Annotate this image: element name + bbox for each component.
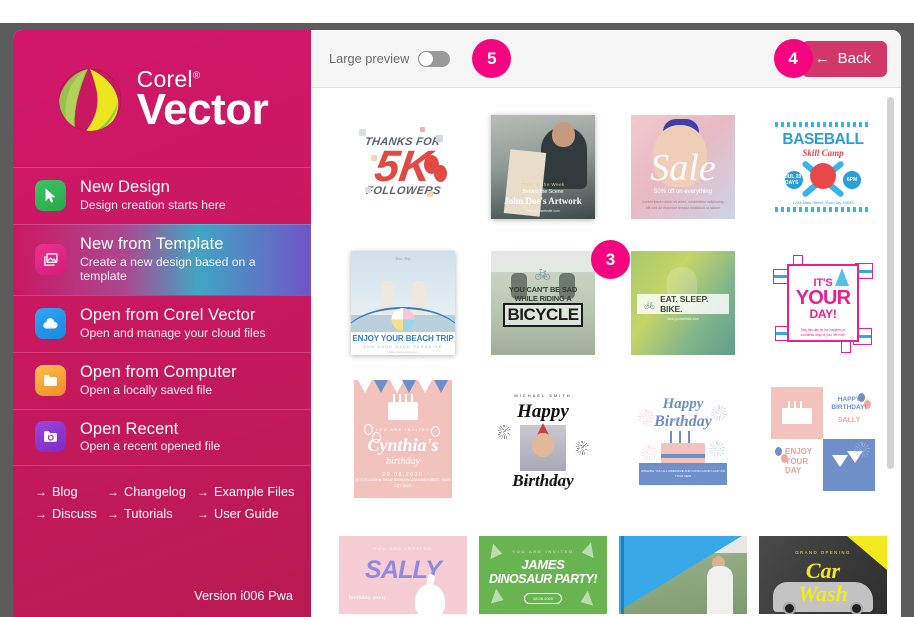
link-label: Discuss: [52, 506, 97, 521]
thumb-cap2: Behind the Scene: [491, 189, 595, 195]
thumb-name: Cynthia's: [354, 435, 452, 456]
bicycle-icon: 🚲: [535, 265, 551, 281]
recent-folder-icon: [35, 421, 66, 452]
sidebar-item-title: Open Recent: [80, 420, 220, 439]
thumb-name: MICHAEL SMITH: [491, 393, 595, 398]
template-thumbnail-car-wash-grand-opening: GRAND OPENING Car Wash: [759, 536, 887, 614]
thumb-boxed: BICYCLE: [507, 305, 578, 325]
annotation-badge-4: 4: [774, 39, 813, 78]
template-thumbnail-its-your-day: IT'S YOUR DAY! May this day be the happi…: [771, 251, 875, 355]
toolbar: Large preview 5 4 ← Back: [311, 30, 901, 88]
thumb-line1: YOU CAN'T BE SAD: [491, 285, 595, 294]
sidebar-item-title: New Design: [80, 178, 226, 197]
thumb-pre: YOU ARE INVITED: [339, 546, 467, 551]
template-thumbnail-bicycle-quote: 🚲 YOU CAN'T BE SAD WHILE RIDING A BICYCL…: [491, 251, 595, 355]
link-label: Changelog: [124, 484, 186, 499]
sidebar-item-title: Open from Computer: [80, 363, 237, 382]
sidebar-nav: New Design Design creation starts here N…: [13, 167, 311, 466]
thumb-title: BASEBALL: [775, 131, 871, 149]
thumb-fineprint: May this day be the happiest of countles…: [789, 328, 857, 338]
thumb-cap4: www.yourwebsite.com: [491, 209, 595, 213]
thumb-date: 28.08.2020: [524, 593, 562, 604]
brand-logo: Corel® Vector: [13, 30, 311, 164]
annotation-badge-5: 5: [472, 39, 511, 78]
template-card[interactable]: MICHAEL SMITH Happy Birthday 26 . 08 . 2…: [479, 378, 607, 500]
back-button[interactable]: ← Back: [802, 41, 887, 77]
template-thumbnail-cynthia-birthday: YOU ARE INVITED Cynthia's birthday 20.08…: [354, 380, 452, 498]
template-thumbnail-thanks-for-5k-followers: THANKS FOR 5K FOLLOWERS: [351, 115, 455, 219]
sidebar: Corel® Vector New Design Design creation…: [13, 30, 311, 617]
sidebar-item-subtitle: Create a new design based on a template: [80, 256, 297, 284]
thumb-subtitle: SUN SAND SAND PARADISE: [351, 345, 455, 349]
thumb-line2: Wash: [759, 581, 887, 607]
thumb-subtitle: 50% off on everything: [631, 189, 735, 195]
thumb-url: www.yourwebsite.com: [351, 350, 455, 354]
arrow-right-icon: →: [35, 507, 47, 521]
sidebar-item-new-from-template[interactable]: New from Template Create a new design ba…: [13, 224, 311, 295]
desktop-backdrop: Corel® Vector New Design Design creation…: [0, 0, 914, 617]
corel-logo-icon: [56, 66, 124, 134]
thumb-title: ENJOY YOUR BEACH TRIP: [351, 334, 455, 343]
template-thumbnail-sale-baby-photo: Sale 50% off on everything Lorem ipsum d…: [631, 115, 735, 219]
thumb-subtitle: Skill Camp: [775, 148, 871, 158]
version-label: Version i006 Pwa: [194, 588, 293, 603]
template-grid: THANKS FOR 5K FOLLOWERS: [311, 88, 901, 617]
arrow-right-icon: →: [107, 485, 119, 499]
thumb-line2: YOUR: [789, 289, 857, 307]
thumb-badge-right: 6PM: [843, 171, 861, 189]
thumb-sub: birthday party: [349, 595, 387, 600]
cloud-icon: [35, 308, 66, 339]
sidebar-item-subtitle: Design creation starts here: [80, 199, 226, 213]
template-card[interactable]: Your Trip ENJOY YOUR BEACH TRIP SUN SAND…: [339, 242, 467, 364]
sidebar-item-open-recent[interactable]: Open Recent Open a recent opened file: [13, 409, 311, 467]
thumb-line1: Happy: [491, 401, 595, 423]
folder-icon: [35, 365, 66, 396]
link-changelog[interactable]: →Changelog: [107, 484, 197, 499]
thumb-title: HAPPY BIRTHDAY!: [827, 396, 871, 412]
thumb-line3: DAY!: [789, 307, 857, 321]
link-label: Tutorials: [124, 506, 173, 521]
app-window: Corel® Vector New Design Design creation…: [13, 30, 901, 617]
link-example-files[interactable]: →Example Files: [197, 484, 311, 499]
bike-icon: 🚲: [644, 299, 655, 310]
cursor-icon: [35, 180, 66, 211]
link-blog[interactable]: →Blog: [35, 484, 107, 499]
template-card[interactable]: Topic of the Week Behind the Scene John …: [479, 106, 607, 228]
thumb-line1: Happy: [631, 397, 735, 411]
thumb-footer: WISHING YOU ALL AWESOME AND GOOD GOOD LU…: [639, 469, 727, 480]
thumb-pre: YOU ARE INVITED: [479, 549, 607, 554]
thumb-date: 20.08.2020: [354, 472, 452, 478]
registered-mark: ®: [193, 70, 201, 81]
thumb-top: Your Trip: [351, 256, 455, 261]
sidebar-links: →Blog →Changelog →Example Files →Discuss…: [13, 484, 311, 521]
link-label: User Guide: [214, 506, 279, 521]
link-tutorials[interactable]: →Tutorials: [107, 506, 197, 521]
brand-name-top: Corel: [137, 66, 193, 92]
link-user-guide[interactable]: →User Guide: [197, 506, 311, 521]
thumb-line1: JAMES: [479, 557, 607, 572]
link-discuss[interactable]: →Discuss: [35, 506, 107, 521]
link-label: Blog: [52, 484, 78, 499]
template-thumbnail-baseball-skill-camp: BASEBALL Skill Camp JUL 20 DAYS 6PM 1234…: [771, 115, 875, 219]
sidebar-item-subtitle: Open a locally saved file: [80, 384, 237, 398]
template-thumbnail-john-doe-artwork: Topic of the Week Behind the Scene John …: [491, 115, 595, 219]
large-preview-label: Large preview: [329, 51, 409, 66]
arrow-right-icon: →: [197, 485, 209, 499]
template-thumbnail-happy-birthday-cake: Happy Birthday WISHING YOU ALL AWESOME A…: [631, 387, 735, 491]
brand-wordmark: Corel® Vector: [137, 68, 269, 132]
template-thumbnail-happy-birthday-sally-quad: HAPPY BIRTHDAY! SALLY ENJOY YOUR DAY: [771, 387, 875, 491]
template-thumbnail-enjoy-your-beach-trip: Your Trip ENJOY YOUR BEACH TRIP SUN SAND…: [351, 251, 455, 355]
arrow-left-icon: ←: [815, 50, 830, 67]
sidebar-item-title: New from Template: [80, 235, 297, 254]
thumb-name: SALLY: [339, 556, 467, 585]
thumb-badge-left: JUL 20 DAYS: [785, 171, 803, 189]
image-stack-icon: [35, 244, 66, 275]
large-preview-toggle[interactable]: [418, 51, 450, 67]
annotation-badge-3: 3: [591, 240, 630, 279]
template-thumbnail-michael-smith-happy-birthday: MICHAEL SMITH Happy Birthday 26 . 08 . 2…: [491, 387, 595, 491]
template-card[interactable]: YOU ARE INVITED SALLY birthday party: [339, 514, 467, 617]
main-panel: Large preview 5 4 ← Back 3: [311, 30, 901, 617]
template-thumbnail-james-dinosaur-party: YOU ARE INVITED JAMES DINOSAUR PARTY! 28…: [479, 536, 607, 614]
thumb-title: Sale: [631, 149, 735, 187]
thumb-url: www.yourwebsite.com: [631, 317, 735, 321]
thumb-address: 1234 Main Street, Your City 20030: [775, 200, 871, 205]
template-card[interactable]: Sale 50% off on everything Lorem ipsum d…: [619, 106, 747, 228]
arrow-right-icon: →: [197, 507, 209, 521]
template-thumbnail-blue-diagonal-photo: [619, 536, 747, 614]
arrow-right-icon: →: [35, 485, 47, 499]
thumb-sub: birthday: [354, 456, 452, 467]
template-card[interactable]: Happy Birthday WISHING YOU ALL AWESOME A…: [619, 378, 747, 500]
thumb-pre: GRAND OPENING: [759, 550, 887, 555]
thumb-label: EAT. SLEEP. BIKE.: [660, 294, 722, 314]
thumb-footer: AT 5 O'CLOCK IN THE AFTERNOON 1234 MAIN …: [354, 478, 452, 489]
template-thumbnail-eat-sleep-bike: 🚲 EAT. SLEEP. BIKE. www.yourwebsite.com: [631, 251, 735, 355]
sidebar-item-subtitle: Open a recent opened file: [80, 440, 220, 454]
arrow-right-icon: →: [107, 507, 119, 521]
template-grid-container[interactable]: 3 THANKS FOR 5K FOLLOWERS: [311, 88, 901, 617]
thumb-cap1: Topic of the Week: [491, 182, 595, 187]
sidebar-item-title: Open from Corel Vector: [80, 306, 266, 325]
template-card[interactable]: BASEBALL Skill Camp JUL 20 DAYS 6PM 1234…: [759, 106, 887, 228]
brand-name-bottom: Vector: [137, 88, 269, 132]
template-card[interactable]: 🚲 YOU CAN'T BE SAD WHILE RIDING A BICYCL…: [479, 242, 607, 364]
sidebar-item-subtitle: Open and manage your cloud files: [80, 327, 266, 341]
thumb-pre: YOU ARE INVITED: [354, 428, 452, 432]
thumb-line2: Birthday: [631, 413, 735, 431]
sidebar-item-open-from-corel-vector[interactable]: Open from Corel Vector Open and manage y…: [13, 295, 311, 352]
thumb-date: 26 . 08 . 2020: [491, 481, 595, 485]
thumb-cap3: John Doe's Artwork: [491, 196, 595, 206]
template-card[interactable]: IT'S YOUR DAY! May this day be the happi…: [759, 242, 887, 364]
template-card[interactable]: GRAND OPENING Car Wash: [759, 514, 887, 617]
thumb-enjoy: ENJOY YOUR DAY: [785, 447, 821, 475]
template-thumbnail-sally-birthday-party: YOU ARE INVITED SALLY birthday party: [339, 536, 467, 614]
back-button-label: Back: [838, 50, 871, 67]
sidebar-item-new-design[interactable]: New Design Design creation starts here: [13, 167, 311, 224]
template-card[interactable]: YOU ARE INVITED Cynthia's birthday 20.08…: [339, 378, 467, 500]
thumb-name: SALLY: [823, 417, 875, 424]
template-card[interactable]: 🚲 EAT. SLEEP. BIKE. www.yourwebsite.com: [619, 242, 747, 364]
sidebar-item-open-from-computer[interactable]: Open from Computer Open a locally saved …: [13, 352, 311, 409]
thumb-line2: DINOSAUR PARTY!: [479, 572, 607, 586]
template-card[interactable]: HAPPY BIRTHDAY! SALLY ENJOY YOUR DAY: [759, 378, 887, 500]
thumb-fineprint: Lorem ipsum dolor sit amet, consectetur …: [641, 200, 725, 211]
template-card[interactable]: [619, 514, 747, 617]
vertical-scrollbar[interactable]: [887, 97, 894, 469]
template-card[interactable]: THANKS FOR 5K FOLLOWERS: [339, 106, 467, 228]
link-label: Example Files: [214, 484, 294, 499]
thumb-line2: WHILE RIDING A: [491, 294, 595, 303]
template-card[interactable]: YOU ARE INVITED JAMES DINOSAUR PARTY! 28…: [479, 514, 607, 617]
